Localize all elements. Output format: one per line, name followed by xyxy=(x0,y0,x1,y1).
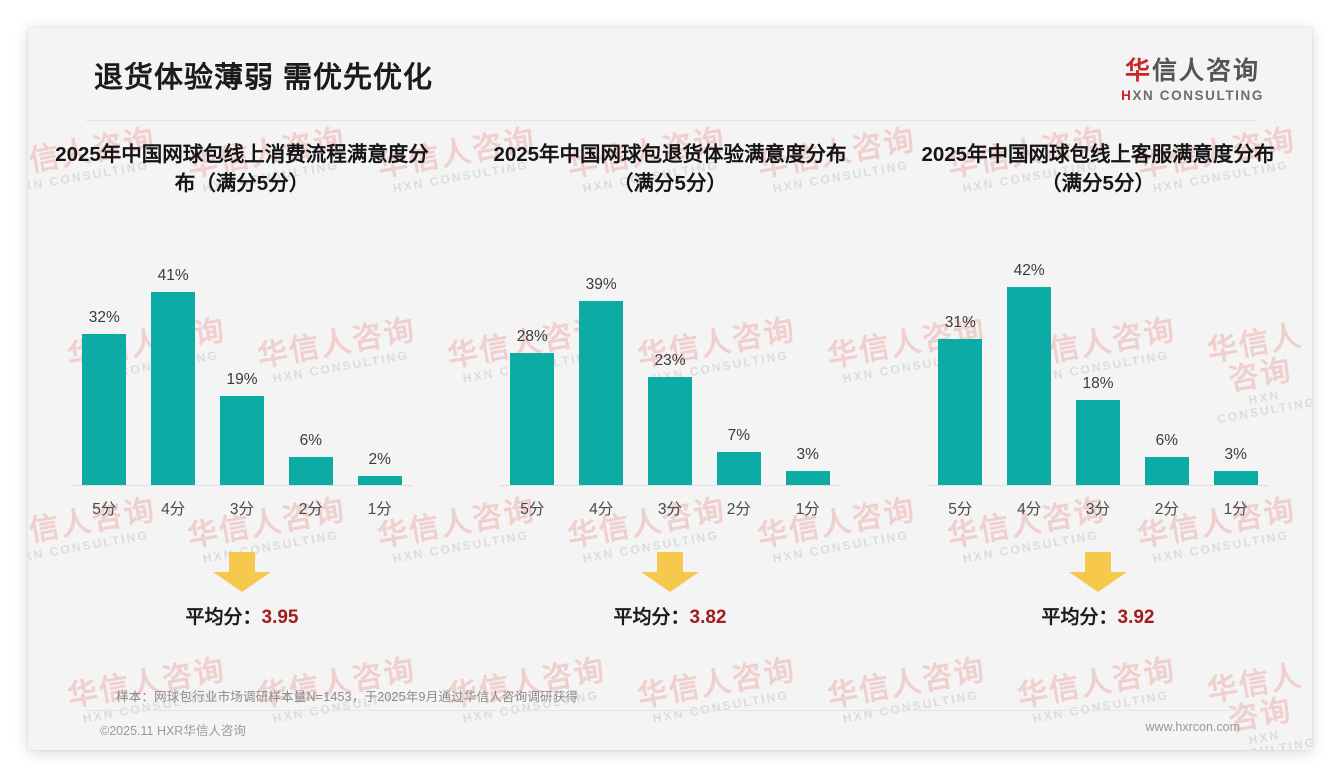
bar-group[interactable]: 6% xyxy=(279,240,344,485)
average-score-block: 平均分：3.92 xyxy=(884,558,1312,644)
bar[interactable] xyxy=(220,396,264,486)
bar-group[interactable]: 31% xyxy=(928,240,993,485)
bar-series: 32%41%19%6%2% xyxy=(72,240,412,485)
average-score-text: 平均分：3.92 xyxy=(884,602,1312,629)
x-axis-tick-label: 3分 xyxy=(638,497,703,519)
bar[interactable] xyxy=(1145,457,1189,485)
bar[interactable] xyxy=(786,471,830,485)
x-axis-tick-label: 4分 xyxy=(141,497,206,519)
logo-en-accent: H xyxy=(1121,88,1132,103)
down-arrow-icon xyxy=(211,552,273,592)
x-axis-labels: 5分4分3分2分1分 xyxy=(928,497,1268,519)
bar-series: 31%42%18%6%3% xyxy=(928,240,1268,485)
average-score-label: 平均分： xyxy=(186,607,262,628)
bar[interactable] xyxy=(648,377,692,485)
bar[interactable] xyxy=(510,353,554,485)
watermark-tile: 华信人咨询HXN CONSULTING xyxy=(825,654,990,726)
average-score-value: 3.95 xyxy=(262,607,299,628)
average-score-text: 平均分：3.82 xyxy=(456,602,884,629)
watermark-chinese: 华信人咨询 xyxy=(1015,654,1178,713)
logo-chinese: 华信人咨询 xyxy=(1121,58,1264,84)
bar-series: 28%39%23%7%3% xyxy=(500,240,840,485)
bar-group[interactable]: 18% xyxy=(1066,240,1131,485)
bar-group[interactable]: 32% xyxy=(72,240,137,485)
logo-english: HXN CONSULTING xyxy=(1121,88,1264,103)
chart-panel: 2025年中国网球包线上消费流程满意度分布（满分5分）32%41%19%6%2%… xyxy=(28,140,456,644)
bar-group[interactable]: 3% xyxy=(1203,240,1268,485)
bar-group[interactable]: 2% xyxy=(347,240,412,485)
down-arrow-icon xyxy=(639,552,701,592)
average-score-label: 平均分： xyxy=(1042,607,1118,628)
brand-logo: 华信人咨询 HXN CONSULTING xyxy=(1121,58,1264,103)
bar-chart-plot: 32%41%19%6%2%5分4分3分2分1分 xyxy=(72,240,412,486)
average-score-block: 平均分：3.95 xyxy=(28,558,456,644)
x-axis-labels: 5分4分3分2分1分 xyxy=(500,497,840,519)
logo-accent-char: 华 xyxy=(1125,57,1152,85)
bar-value-label: 19% xyxy=(226,371,257,389)
average-score-value: 3.92 xyxy=(1118,607,1155,628)
bar-value-label: 39% xyxy=(586,276,617,294)
bar[interactable] xyxy=(1076,400,1120,485)
chart-panel: 2025年中国网球包线上客服满意度分布（满分5分）31%42%18%6%3%5分… xyxy=(884,140,1312,644)
x-axis-tick-label: 2分 xyxy=(1135,497,1200,519)
bar[interactable] xyxy=(579,301,623,485)
x-axis-tick-label: 3分 xyxy=(1066,497,1131,519)
bar-group[interactable]: 3% xyxy=(775,240,840,485)
source-footnote: 样本：网球包行业市场调研样本量N=1453，于2025年9月通过华信人咨询调研获… xyxy=(116,686,578,705)
bar[interactable] xyxy=(1007,287,1051,485)
chart-title: 2025年中国网球包线上消费流程满意度分布（满分5分） xyxy=(28,140,456,204)
bar-value-label: 32% xyxy=(89,309,120,327)
bar-value-label: 7% xyxy=(728,427,750,445)
bar-value-label: 41% xyxy=(158,267,189,285)
x-axis-tick-label: 4分 xyxy=(569,497,634,519)
x-axis-tick-label: 1分 xyxy=(347,497,412,519)
x-axis-line xyxy=(928,485,1268,486)
bar[interactable] xyxy=(938,339,982,485)
slide-footer: ©2025.11 HXR华信人咨询 www.hxrcon.com xyxy=(28,720,1312,750)
footer-divider xyxy=(86,710,1256,711)
x-axis-line xyxy=(72,485,412,486)
chart-title: 2025年中国网球包退货体验满意度分布（满分5分） xyxy=(456,140,884,204)
logo-en-rest: XN CONSULTING xyxy=(1132,88,1264,103)
bar[interactable] xyxy=(717,452,761,485)
page-title: 退货体验薄弱 需优先优化 xyxy=(94,54,433,96)
watermark-chinese: 华信人咨询 xyxy=(635,654,798,713)
bar-value-label: 3% xyxy=(796,446,818,464)
x-axis-tick-label: 1分 xyxy=(1203,497,1268,519)
website-text[interactable]: www.hxrcon.com xyxy=(1146,720,1240,734)
average-score-block: 平均分：3.82 xyxy=(456,558,884,644)
watermark-chinese: 华信人咨询 xyxy=(825,654,988,713)
bar-group[interactable]: 6% xyxy=(1135,240,1200,485)
watermark-tile: 华信人咨询HXN CONSULTING xyxy=(635,654,800,726)
copyright-text: ©2025.11 HXR华信人咨询 xyxy=(100,720,246,739)
x-axis-tick-label: 1分 xyxy=(775,497,840,519)
charts-row: 2025年中国网球包线上消费流程满意度分布（满分5分）32%41%19%6%2%… xyxy=(28,140,1312,644)
bar-group[interactable]: 23% xyxy=(638,240,703,485)
x-axis-tick-label: 5分 xyxy=(72,497,137,519)
average-score-value: 3.82 xyxy=(690,607,727,628)
slide-canvas: 华信人咨询HXN CONSULTING华信人咨询HXN CONSULTING华信… xyxy=(28,28,1312,750)
watermark-tile: 华信人咨询HXN CONSULTING xyxy=(1015,654,1180,726)
bar[interactable] xyxy=(1214,471,1258,485)
bar-value-label: 6% xyxy=(300,432,322,450)
bar-group[interactable]: 28% xyxy=(500,240,565,485)
bar-chart-plot: 28%39%23%7%3%5分4分3分2分1分 xyxy=(500,240,840,486)
header-divider xyxy=(86,120,1256,121)
x-axis-tick-label: 4分 xyxy=(997,497,1062,519)
x-axis-tick-label: 5分 xyxy=(928,497,993,519)
bar-value-label: 28% xyxy=(517,328,548,346)
bar-group[interactable]: 19% xyxy=(210,240,275,485)
average-score-text: 平均分：3.95 xyxy=(28,602,456,629)
logo-rest-chars: 信人咨询 xyxy=(1152,57,1260,85)
x-axis-tick-label: 3分 xyxy=(210,497,275,519)
bar[interactable] xyxy=(82,334,126,485)
bar[interactable] xyxy=(358,476,402,485)
bar-group[interactable]: 7% xyxy=(707,240,772,485)
bar-value-label: 2% xyxy=(368,451,390,469)
average-score-label: 平均分： xyxy=(614,607,690,628)
x-axis-tick-label: 2分 xyxy=(279,497,344,519)
bar[interactable] xyxy=(151,292,195,485)
bar-group[interactable]: 39% xyxy=(569,240,634,485)
chart-title: 2025年中国网球包线上客服满意度分布（满分5分） xyxy=(884,140,1312,204)
chart-panel: 2025年中国网球包退货体验满意度分布（满分5分）28%39%23%7%3%5分… xyxy=(456,140,884,644)
bar-value-label: 6% xyxy=(1156,432,1178,450)
slide-header: 退货体验薄弱 需优先优化 华信人咨询 HXN CONSULTING xyxy=(28,28,1312,120)
bar-value-label: 31% xyxy=(945,314,976,332)
bar-group[interactable]: 42% xyxy=(997,240,1062,485)
x-axis-line xyxy=(500,485,840,486)
down-arrow-icon xyxy=(1067,552,1129,592)
bar-value-label: 23% xyxy=(654,352,685,370)
bar-value-label: 3% xyxy=(1224,446,1246,464)
bar-value-label: 18% xyxy=(1082,375,1113,393)
x-axis-tick-label: 5分 xyxy=(500,497,565,519)
bar-chart-plot: 31%42%18%6%3%5分4分3分2分1分 xyxy=(928,240,1268,486)
x-axis-labels: 5分4分3分2分1分 xyxy=(72,497,412,519)
bar[interactable] xyxy=(289,457,333,485)
bar-value-label: 42% xyxy=(1014,262,1045,280)
bar-group[interactable]: 41% xyxy=(141,240,206,485)
x-axis-tick-label: 2分 xyxy=(707,497,772,519)
